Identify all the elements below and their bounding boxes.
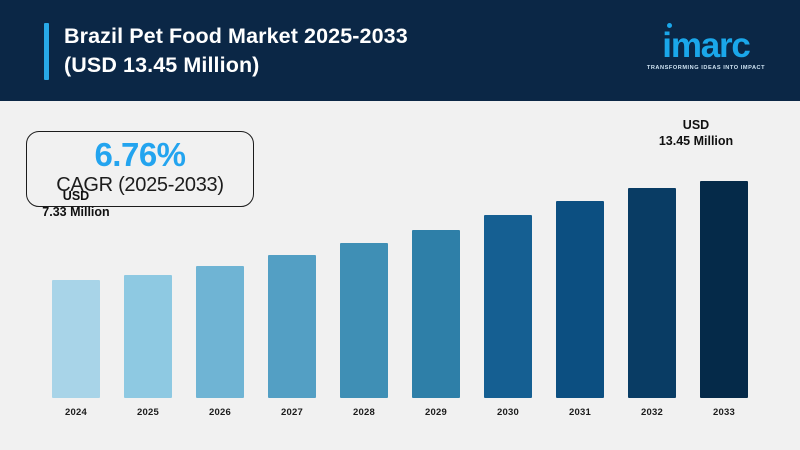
bar-2025[interactable] — [124, 275, 172, 398]
page-title-line-2: (USD 13.45 Million) — [64, 51, 644, 80]
bar-slot: 2024 — [40, 153, 112, 398]
bar-slot: 2027 — [256, 153, 328, 398]
x-axis-label-2028: 2028 — [328, 407, 400, 418]
x-axis-label-2030: 2030 — [472, 407, 544, 418]
value-callout-end-amount: 13.45 Million — [636, 133, 756, 149]
bar-slot: 2033 — [688, 153, 760, 398]
value-callout-end: USD 13.45 Million — [636, 117, 756, 149]
bar-chart: USD 7.33 Million USD 13.45 Million 20242… — [0, 101, 800, 450]
logo-wordmark: imarc — [662, 28, 749, 64]
bar-2033[interactable] — [700, 181, 748, 398]
x-axis-label-2027: 2027 — [256, 407, 328, 418]
page-title: Brazil Pet Food Market 2025-2033 (USD 13… — [64, 22, 644, 80]
x-axis-label-2024: 2024 — [40, 407, 112, 418]
x-axis-label-2025: 2025 — [112, 407, 184, 418]
x-axis-label-2026: 2026 — [184, 407, 256, 418]
x-axis-label-2032: 2032 — [616, 407, 688, 418]
x-axis-label-2029: 2029 — [400, 407, 472, 418]
header-accent-stripe — [44, 23, 49, 80]
bar-slot: 2030 — [472, 153, 544, 398]
bar-2027[interactable] — [268, 255, 316, 398]
plot-area: 2024202520262027202820292030203120322033 — [40, 153, 760, 398]
bar-slot: 2026 — [184, 153, 256, 398]
bar-slot: 2032 — [616, 153, 688, 398]
bar-2032[interactable] — [628, 188, 676, 398]
infographic-root: Brazil Pet Food Market 2025-2033 (USD 13… — [0, 0, 800, 450]
bar-2028[interactable] — [340, 243, 388, 398]
bar-2024[interactable] — [52, 280, 100, 398]
bar-slot: 2028 — [328, 153, 400, 398]
bar-2026[interactable] — [196, 266, 244, 398]
bar-2030[interactable] — [484, 215, 532, 398]
bar-slot: 2031 — [544, 153, 616, 398]
logo-wordmark-text: imarc — [662, 26, 749, 65]
bar-2031[interactable] — [556, 201, 604, 398]
header-bar: Brazil Pet Food Market 2025-2033 (USD 13… — [0, 0, 800, 101]
page-title-line-1: Brazil Pet Food Market 2025-2033 — [64, 22, 644, 51]
bar-slot: 2029 — [400, 153, 472, 398]
bar-slot: 2025 — [112, 153, 184, 398]
x-axis-label-2033: 2033 — [688, 407, 760, 418]
imarc-logo[interactable]: imarc TRANSFORMING IDEAS INTO IMPACT — [640, 28, 772, 76]
x-axis-label-2031: 2031 — [544, 407, 616, 418]
value-callout-end-unit: USD — [636, 117, 756, 133]
logo-tagline: TRANSFORMING IDEAS INTO IMPACT — [640, 65, 772, 71]
bar-2029[interactable] — [412, 230, 460, 398]
